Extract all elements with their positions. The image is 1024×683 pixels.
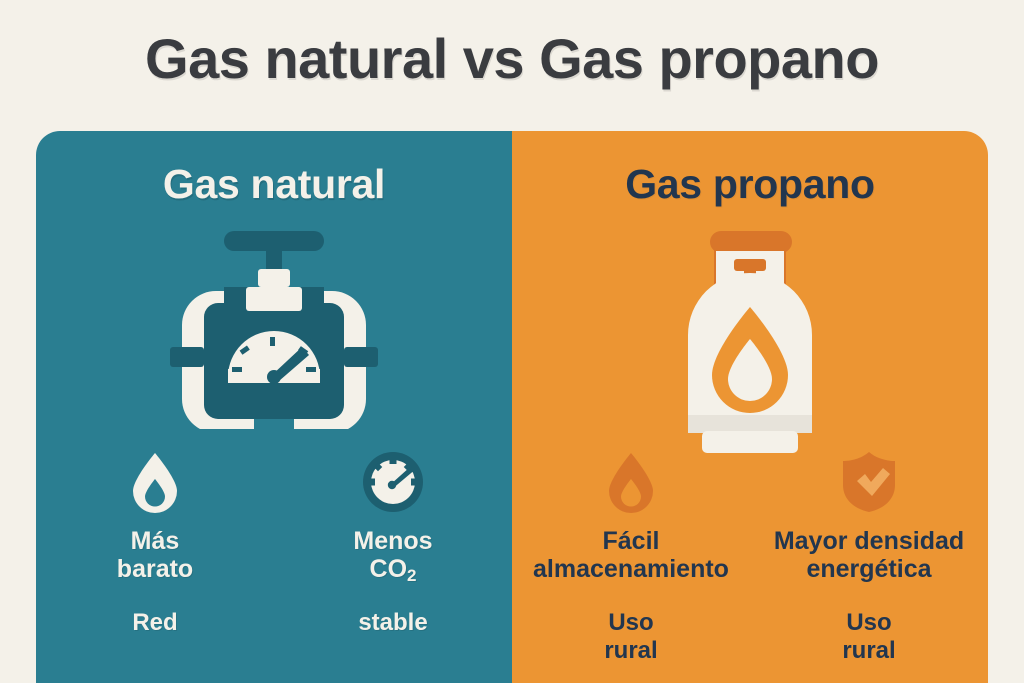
shield-check-icon [840,451,898,513]
propane-tank-icon [512,229,988,459]
panel-gas-natural: Gas natural [36,131,512,683]
note-red: Red [36,609,274,637]
feature-label-menos-co2: Menos CO2 [353,527,432,583]
gauge-icon [362,451,424,513]
feature-label-line1: Menos [353,527,432,555]
feature-menos-co2: Menos CO2 [274,451,512,583]
infographic-canvas: Gas natural vs Gas propano Gas natural [0,0,1024,683]
note-line1: stable [274,609,512,637]
feature-label-subscript: 2 [407,566,416,585]
gas-meter-icon [36,229,512,429]
note-stable: stable [274,609,512,637]
feature-label-facil-almacenamiento: Fácil almacenamiento [533,527,729,583]
feature-label-line1: Fácil [603,527,660,555]
feature-label-mas-barato: Más barato [117,527,193,583]
page-title: Gas natural vs Gas propano [0,26,1024,91]
panel-heading-gas-natural: Gas natural [36,161,512,208]
feature-label-line2: energética [806,555,931,583]
note-uso-rural-1: Uso rural [512,609,750,664]
note-row-gas-propano: Uso rural Uso rural [512,609,988,664]
feature-label-line1: Más [131,527,180,555]
panel-heading-gas-propano: Gas propano [512,161,988,208]
feature-row-gas-natural: Más barato [36,451,512,583]
panel-gas-propano: Gas propano [512,131,988,683]
feature-label-mayor-densidad: Mayor densidad energética [774,527,964,583]
note-line2: rural [750,637,988,665]
droplet-icon [605,451,657,513]
feature-mas-barato: Más barato [36,451,274,583]
note-line2: rural [512,637,750,665]
feature-facil-almacenamiento: Fácil almacenamiento [512,451,750,583]
feature-label-line2: CO [370,555,408,583]
droplet-icon [129,451,181,513]
note-uso-rural-2: Uso rural [750,609,988,664]
note-line1: Uso [512,609,750,637]
comparison-panels: Gas natural [36,131,988,683]
feature-label-line2: barato [117,555,193,583]
note-row-gas-natural: Red stable [36,609,512,637]
note-line1: Uso [750,609,988,637]
feature-mayor-densidad: Mayor densidad energética [750,451,988,583]
note-line1: Red [36,609,274,637]
feature-label-line1: Mayor densidad [774,527,964,555]
feature-row-gas-propano: Fácil almacenamiento Mayor densidad ener… [512,451,988,583]
feature-label-line2: almacenamiento [533,555,729,583]
